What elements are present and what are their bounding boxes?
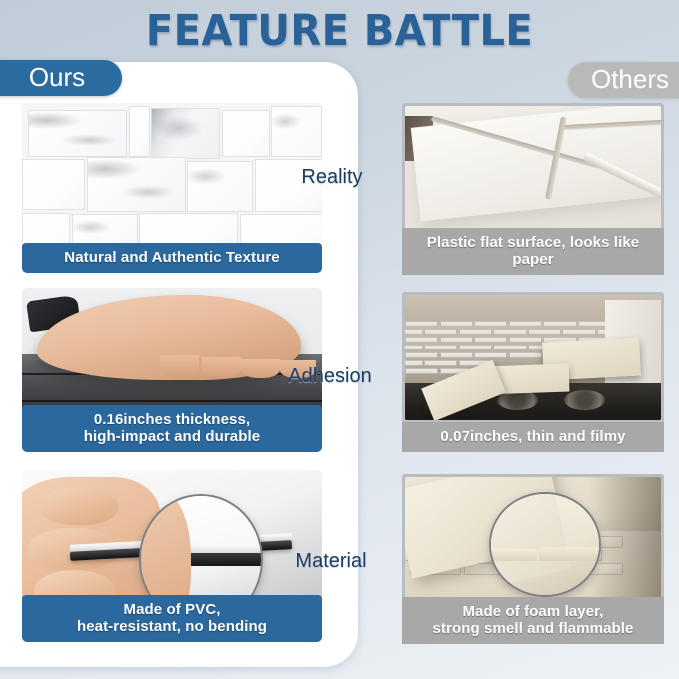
others-panel-reality: Plastic flat surface, looks like paper (402, 103, 664, 275)
foam-tile-peel-image (405, 477, 661, 606)
infographic-canvas: FEATURE BATTLE Ours Others Natu (0, 0, 679, 679)
ours-caption-material-line1: Made of PVC, (26, 601, 318, 618)
ours-caption-adhesion-line1: 0.16inches thickness, (26, 411, 318, 428)
others-panel-adhesion: 0.07inches, thin and filmy (402, 292, 664, 452)
thin-sheets-kitchen-image (405, 295, 661, 420)
feature-label-reality: Reality (272, 166, 392, 189)
others-caption-material-line1: Made of foam layer, (406, 603, 660, 620)
tab-ours[interactable]: Ours (0, 60, 122, 96)
magnifier-circle-foam (489, 492, 601, 597)
feature-label-material: Material (271, 550, 391, 573)
others-caption-material: Made of foam layer, strong smell and fla… (402, 597, 664, 644)
feature-label-adhesion: Adhesion (270, 365, 390, 388)
ours-caption-material-line2: heat-resistant, no bending (26, 618, 318, 635)
tab-others[interactable]: Others (568, 62, 679, 98)
ours-caption-adhesion: 0.16inches thickness, high-impact and du… (22, 405, 322, 452)
others-panel-material: Made of foam layer, strong smell and fla… (402, 474, 664, 644)
others-caption-adhesion: 0.07inches, thin and filmy (402, 422, 664, 452)
ours-caption-adhesion-line2: high-impact and durable (26, 428, 318, 445)
ours-caption-material: Made of PVC, heat-resistant, no bending (22, 595, 322, 642)
others-caption-reality: Plastic flat surface, looks like paper (402, 228, 664, 275)
plastic-sheet-image (405, 106, 661, 237)
others-caption-material-line2: strong smell and flammable (406, 620, 660, 637)
ours-caption-reality: Natural and Authentic Texture (22, 243, 322, 273)
page-title: FEATURE BATTLE (24, 6, 655, 56)
